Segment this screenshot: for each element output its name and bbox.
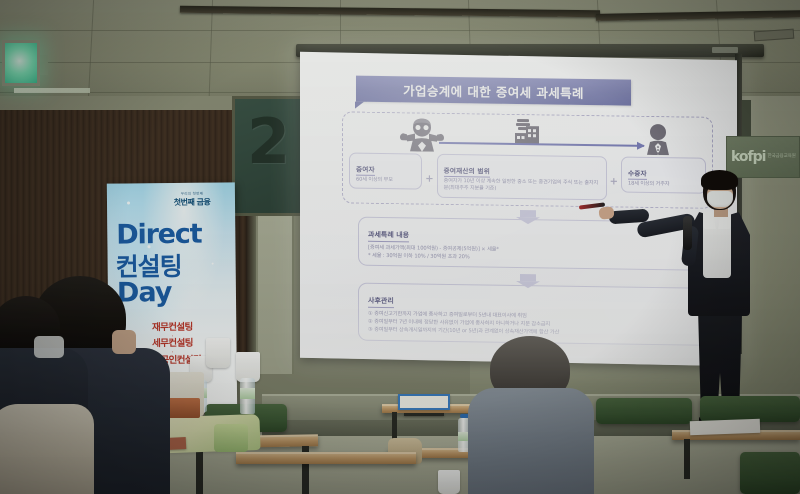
ceiling-light (14, 88, 90, 93)
kofpi-logo-korean: 한국금융교육원 (767, 154, 795, 159)
banner-headline-day: Day (117, 277, 172, 309)
wooden-desk (236, 452, 416, 464)
bubble-scope-heading: 증여재산의 범위 (444, 165, 490, 177)
attendee-jacket (0, 404, 94, 494)
slide-title: 가업승계에 대한 증여세 과세특례 (403, 80, 584, 102)
seminar-photo: 2 가업승계에 대한 증여세 과세특례 (0, 0, 800, 494)
bubble-scope: 증여재산의 범위 증여자가 10년 이상 계속한 일정한 중소 또는 중견기업의… (437, 154, 607, 200)
handout-paper (690, 419, 760, 435)
face-mask-icon (707, 191, 733, 207)
face-mask-icon (34, 336, 64, 358)
presenter (655, 168, 775, 418)
banner-logo: 우리의 첫번째 첫번째 금융 (159, 188, 225, 211)
blue-bordered-document (398, 394, 450, 410)
attendee-ear (112, 330, 136, 354)
paper-cup (206, 338, 230, 368)
desk-leg (196, 448, 203, 494)
banner-logo-main: 첫번째 금융 (174, 197, 211, 208)
bubble-giver: 증여자 60세 이상의 부모 (349, 152, 422, 189)
right-arrow-icon (439, 142, 644, 147)
desk-leg (684, 439, 690, 479)
plus-symbol: + (610, 169, 618, 187)
bubble-receiver-heading: 수증자 (628, 168, 647, 180)
presenter-hair (701, 170, 738, 190)
banner-headline-en: Direct (116, 219, 201, 251)
presenter-forearm (609, 209, 650, 225)
paper-cup (438, 470, 460, 494)
elderly-man-icon (399, 117, 445, 152)
bubble-giver-heading: 증여자 (356, 164, 375, 176)
bubble-scope-detail: 증여자가 10년 이상 계속한 일정한 중소 또는 중견기업의 주식 또는 출자… (444, 178, 601, 195)
green-chair[interactable] (596, 398, 692, 424)
attendee-shirt (468, 388, 594, 494)
slide-title-bar: 가업승계에 대한 증여세 과세특례 (356, 76, 631, 106)
logo-mount-post (742, 100, 751, 140)
kofpi-logo-mark: kofpi (731, 149, 765, 165)
exit-sign-bracket (40, 55, 48, 75)
presenter-hand (598, 206, 614, 220)
green-chair[interactable] (740, 452, 800, 494)
green-pouch (214, 424, 248, 452)
bubble-giver-detail: 60세 이상의 부모 (356, 177, 416, 185)
microphone[interactable] (683, 216, 692, 250)
panel-tax-heading: 과세특례 내용 (368, 230, 409, 242)
room-number: 2 (247, 105, 290, 178)
money-building-stack-icon (513, 117, 543, 145)
plus-symbol: + (425, 166, 433, 184)
housing-brand-label (712, 47, 738, 53)
pen (404, 413, 444, 416)
exit-sign-icon (2, 40, 40, 86)
bottle-label (240, 388, 255, 399)
young-person-icon (643, 123, 673, 155)
